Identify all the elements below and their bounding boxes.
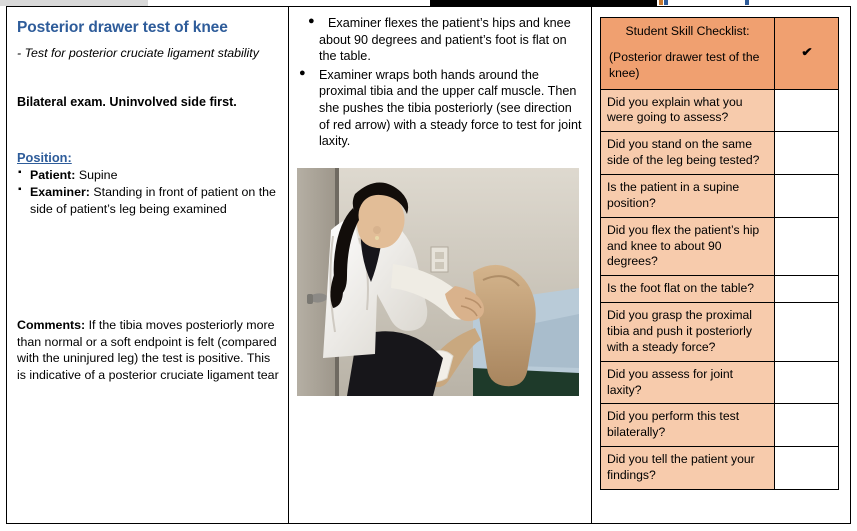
checklist-header-line2: (Posterior drawer test of the knee) (605, 50, 770, 82)
procedure-photo (297, 168, 579, 396)
top-strip-dot-3 (745, 0, 749, 5)
position-item-label: Examiner: (30, 185, 90, 199)
checklist-header-line1: Student Skill Checklist: (605, 24, 770, 40)
right-column-checklist: Student Skill Checklist: (Posterior draw… (592, 7, 850, 523)
comments-label: Comments: (17, 318, 85, 332)
list-item: Examiner: Standing in front of patient o… (17, 184, 278, 217)
checklist-item-checkbox[interactable] (775, 404, 839, 447)
checklist-item-checkbox[interactable] (775, 276, 839, 303)
position-item-text: Supine (75, 168, 117, 182)
table-row: Did you assess for joint laxity? (601, 361, 839, 404)
table-row: Did you tell the patient your findings? (601, 447, 839, 490)
list-item: Examiner flexes the patient’s hips and k… (297, 15, 583, 65)
page-title: Posterior drawer test of knee (17, 19, 278, 36)
checklist-header-check-cell: ✔ (775, 18, 839, 90)
position-list: Patient: Supine Examiner: Standing in fr… (17, 167, 278, 218)
position-item-label: Patient: (30, 168, 75, 182)
checklist-item-checkbox[interactable] (775, 447, 839, 490)
procedure-photo-illustration (297, 168, 579, 396)
list-item: Examiner wraps both hands around the pro… (297, 67, 583, 150)
checklist-item-checkbox[interactable] (775, 89, 839, 132)
table-row: Did you stand on the same side of the le… (601, 132, 839, 175)
checklist-item-checkbox[interactable] (775, 217, 839, 276)
student-skill-checklist-table: Student Skill Checklist: (Posterior draw… (600, 17, 839, 490)
position-heading: Position: (17, 150, 278, 165)
checklist-item-checkbox[interactable] (775, 361, 839, 404)
comments-block: Comments: If the tibia moves posteriorly… (17, 317, 279, 384)
checklist-item-label: Did you flex the patient’s hip and knee … (601, 217, 775, 276)
table-row: Did you explain what you were going to a… (601, 89, 839, 132)
checklist-header-title-cell: Student Skill Checklist: (Posterior draw… (601, 18, 775, 90)
checklist-item-label: Did you assess for joint laxity? (601, 361, 775, 404)
checklist-item-label: Is the foot flat on the table? (601, 276, 775, 303)
checklist-item-label: Did you grasp the proximal tibia and pus… (601, 303, 775, 362)
table-row: Did you grasp the proximal tibia and pus… (601, 303, 839, 362)
table-row: Did you flex the patient’s hip and knee … (601, 217, 839, 276)
checklist-item-label: Is the patient in a supine position? (601, 175, 775, 218)
check-icon: ✔ (801, 45, 813, 61)
checklist-item-checkbox[interactable] (775, 132, 839, 175)
page-subtitle: - Test for posterior cruciate ligament s… (17, 46, 278, 61)
checklist-item-label: Did you stand on the same side of the le… (601, 132, 775, 175)
procedure-steps-list: Examiner flexes the patient’s hips and k… (297, 15, 583, 150)
middle-column-procedure: Examiner flexes the patient’s hips and k… (289, 7, 592, 523)
bilateral-exam-note: Bilateral exam. Uninvolved side first. (17, 95, 278, 109)
top-strip-dot-2 (664, 0, 668, 5)
checklist-item-label: Did you explain what you were going to a… (601, 89, 775, 132)
table-row: Is the foot flat on the table? (601, 276, 839, 303)
checklist-item-label: Did you perform this test bilaterally? (601, 404, 775, 447)
checklist-item-label: Did you tell the patient your findings? (601, 447, 775, 490)
checklist-header-row: Student Skill Checklist: (Posterior draw… (601, 18, 839, 90)
table-row: Did you perform this test bilaterally? (601, 404, 839, 447)
list-item: Patient: Supine (17, 167, 278, 184)
document-layout-table: Posterior drawer test of knee - Test for… (6, 6, 851, 524)
table-row: Is the patient in a supine position? (601, 175, 839, 218)
checklist-item-checkbox[interactable] (775, 175, 839, 218)
checklist-item-checkbox[interactable] (775, 303, 839, 362)
top-strip-dot-1 (659, 0, 663, 5)
left-column-description: Posterior drawer test of knee - Test for… (7, 7, 289, 523)
